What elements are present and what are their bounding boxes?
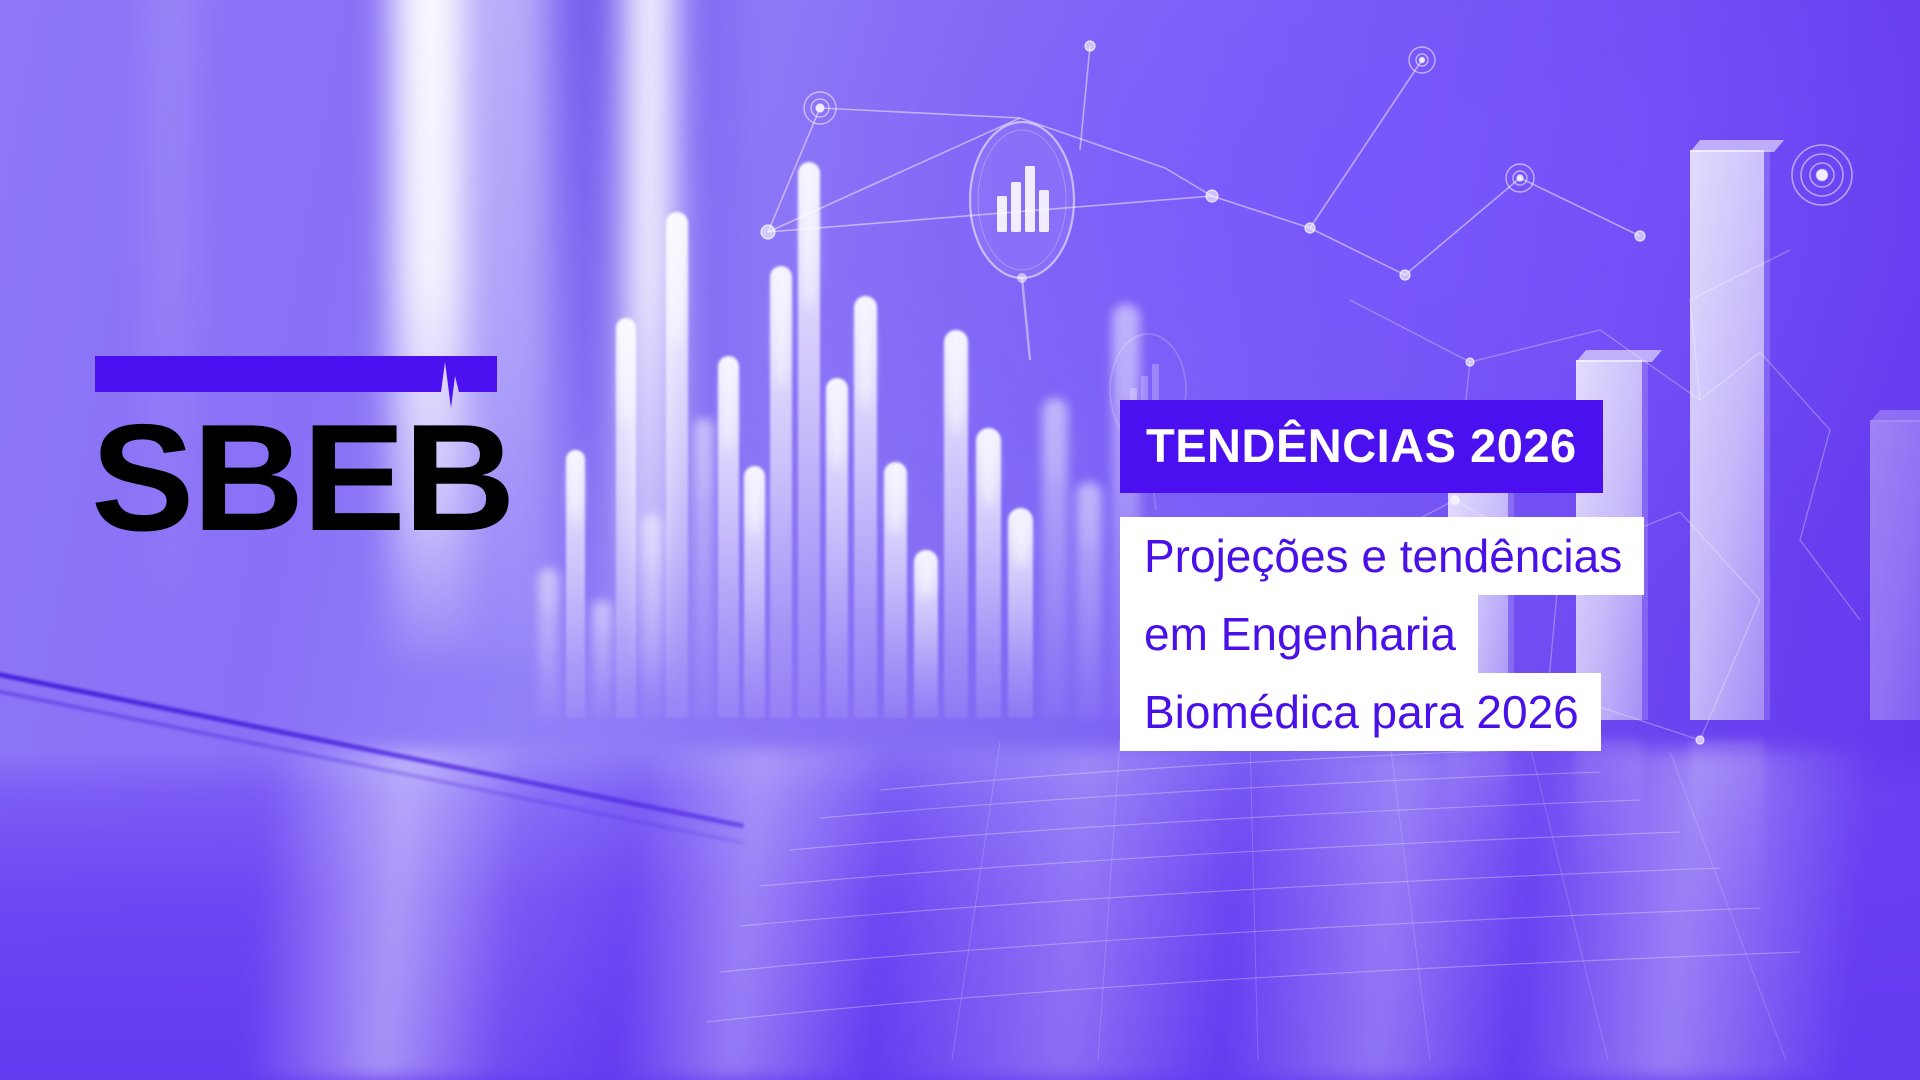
bar-reflection	[1690, 740, 1764, 930]
chart-bar	[592, 600, 612, 718]
chart-bar	[642, 514, 662, 718]
chart-slab	[1870, 420, 1920, 720]
bar-reflection	[1448, 740, 1508, 860]
logo-wordmark: SBEB	[91, 402, 514, 554]
chart-bar	[566, 450, 585, 718]
chart-bar	[718, 356, 739, 718]
sbeb-logo: SBEB	[95, 356, 495, 576]
chart-bar	[666, 212, 688, 718]
chart-bar	[1076, 482, 1102, 718]
slab-top-face	[1870, 410, 1920, 422]
logo-bar	[95, 356, 440, 392]
chart-bar	[770, 266, 792, 718]
bar-reflection	[1576, 740, 1642, 890]
chart-bar	[1042, 398, 1068, 718]
slab-top-face	[1576, 350, 1662, 362]
chart-bar	[744, 466, 765, 718]
chart-bar	[976, 428, 1001, 718]
subtitle-line: Biomédica para 2026	[1120, 673, 1601, 751]
chart-bar	[826, 378, 848, 718]
chart-bar	[1008, 508, 1033, 718]
title-panel: TENDÊNCIAS 2026 Projeções e tendências e…	[1120, 400, 1840, 751]
subtitle-line: Projeções e tendências	[1120, 517, 1644, 595]
poster-canvas: SBEB TENDÊNCIAS 2026 Projeções e tendênc…	[0, 0, 1920, 1080]
status-badge: TENDÊNCIAS 2026	[1120, 400, 1603, 493]
chart-bar	[798, 162, 820, 718]
slab-top-face	[1690, 140, 1784, 152]
chart-bar	[854, 296, 877, 718]
chart-bar	[694, 418, 714, 718]
chart-bar	[944, 330, 968, 718]
chart-bar	[538, 568, 559, 718]
chart-bar	[616, 318, 636, 718]
subtitle-block: Projeções e tendências em Engenharia Bio…	[1120, 517, 1840, 751]
chart-bar	[914, 550, 938, 718]
subtitle-line: em Engenharia	[1120, 595, 1478, 673]
chart-bar	[884, 462, 907, 718]
